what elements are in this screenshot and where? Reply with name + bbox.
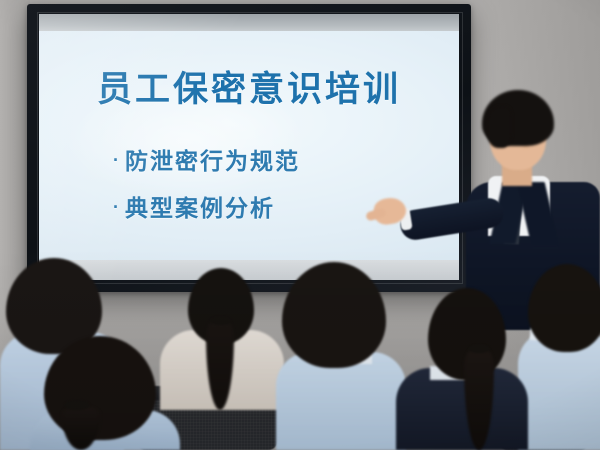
presentation-display: 员工保密意识培训 ·防泄密行为规范 ·典型案例分析 bbox=[27, 4, 471, 292]
slide-title: 员工保密意识培训 bbox=[39, 61, 459, 112]
bullet-text: 防泄密行为规范 bbox=[125, 148, 300, 174]
attendee-head bbox=[528, 264, 600, 352]
presenter-hair-side bbox=[486, 106, 512, 148]
slide-bottom-band bbox=[39, 260, 459, 280]
slide-bullet-list: ·防泄密行为规范 ·典型案例分析 bbox=[113, 142, 300, 236]
bullet-text: 典型案例分析 bbox=[125, 195, 275, 221]
hair-tie bbox=[468, 344, 490, 353]
bullet-marker-icon: · bbox=[113, 197, 121, 217]
slide-top-band bbox=[39, 14, 459, 31]
attendee-blazer bbox=[396, 368, 528, 450]
hair-tie bbox=[210, 316, 232, 325]
slide-bullet-item: ·典型案例分析 bbox=[113, 189, 300, 223]
bullet-marker-icon: · bbox=[113, 150, 121, 170]
slide-surface: 员工保密意识培训 ·防泄密行为规范 ·典型案例分析 bbox=[39, 14, 459, 280]
hair-tie bbox=[64, 400, 90, 410]
training-room-photo: 员工保密意识培训 ·防泄密行为规范 ·典型案例分析 bbox=[0, 0, 600, 450]
slide-bullet-item: ·防泄密行为规范 bbox=[113, 142, 300, 176]
